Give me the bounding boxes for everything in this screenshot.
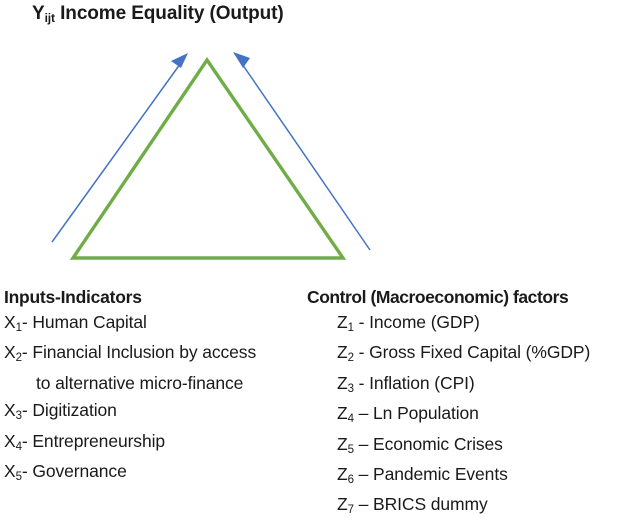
control-symbol: Z bbox=[337, 434, 348, 454]
control-label: - Inflation (CPI) bbox=[354, 373, 475, 393]
control-subscript: 6 bbox=[348, 474, 354, 486]
control-label: - Gross Fixed Capital (%GDP) bbox=[354, 342, 590, 362]
input-label: - Human Capital bbox=[22, 312, 147, 332]
input-subscript: 4 bbox=[16, 441, 22, 453]
list-item: X1- Human Capital bbox=[4, 309, 306, 339]
control-symbol: Z bbox=[337, 403, 348, 423]
input-symbol: X bbox=[4, 461, 16, 481]
list-item: Z6 – Pandemic Events bbox=[306, 461, 630, 491]
control-label: – Pandemic Events bbox=[354, 464, 508, 484]
input-symbol: X bbox=[4, 431, 16, 451]
control-symbol: Z bbox=[337, 312, 348, 332]
control-symbol: Z bbox=[337, 494, 348, 514]
input-symbol: X bbox=[4, 312, 16, 332]
inputs-column-header: Inputs-Indicators bbox=[4, 286, 306, 309]
title-symbol: Y bbox=[32, 3, 45, 24]
control-label: - Income (GDP) bbox=[354, 312, 480, 332]
list-item: Z4 – Ln Population bbox=[306, 400, 630, 430]
list-item: X3- Digitization bbox=[4, 397, 306, 427]
controls-list: Z1 - Income (GDP)Z2 - Gross Fixed Capita… bbox=[306, 309, 630, 522]
green-triangle bbox=[73, 60, 343, 258]
control-subscript: 3 bbox=[348, 383, 354, 395]
control-subscript: 7 bbox=[348, 504, 354, 516]
right-upward-arrow-icon bbox=[233, 52, 370, 250]
page-title: Yijt Income Equality (Output) bbox=[32, 2, 284, 27]
inputs-indicators-column: Inputs-Indicators X1- Human CapitalX2- F… bbox=[4, 286, 306, 488]
inputs-list: X1- Human CapitalX2- Financial Inclusion… bbox=[4, 309, 306, 488]
list-item: X5- Governance bbox=[4, 458, 306, 488]
input-symbol: X bbox=[4, 400, 16, 420]
input-label: - Digitization bbox=[22, 400, 117, 420]
control-subscript: 1 bbox=[348, 322, 354, 334]
title-symbol-subscript: ijt bbox=[45, 11, 55, 25]
list-item: X2- Financial Inclusion by access bbox=[4, 339, 306, 369]
list-item: Z2 - Gross Fixed Capital (%GDP) bbox=[306, 339, 630, 369]
input-label: - Entrepreneurship bbox=[22, 431, 165, 451]
control-symbol: Z bbox=[337, 342, 348, 362]
input-subscript: 2 bbox=[16, 352, 22, 364]
list-item: Z7 – BRICS dummy bbox=[306, 491, 630, 521]
input-subscript: 3 bbox=[16, 410, 22, 422]
control-symbol: Z bbox=[337, 464, 348, 484]
control-subscript: 4 bbox=[348, 413, 354, 425]
control-subscript: 2 bbox=[348, 352, 354, 364]
input-symbol: X bbox=[4, 342, 16, 362]
input-label: - Governance bbox=[22, 461, 127, 481]
input-label: - Financial Inclusion by access bbox=[22, 342, 256, 362]
control-label: – Economic Crises bbox=[354, 434, 503, 454]
input-subscript: 5 bbox=[16, 471, 22, 483]
control-label: – BRICS dummy bbox=[354, 494, 488, 514]
list-item: Z5 – Economic Crises bbox=[306, 431, 630, 461]
controls-column-header: Control (Macroeconomic) factors bbox=[306, 286, 630, 309]
triangle-diagram bbox=[0, 28, 630, 283]
title-text: Income Equality (Output) bbox=[55, 3, 284, 24]
list-item: X4- Entrepreneurship bbox=[4, 428, 306, 458]
list-item: Z1 - Income (GDP) bbox=[306, 309, 630, 339]
control-label: – Ln Population bbox=[354, 403, 479, 423]
left-upward-arrow-icon bbox=[52, 53, 188, 242]
list-item: Z3 - Inflation (CPI) bbox=[306, 370, 630, 400]
input-subscript: 1 bbox=[16, 322, 22, 334]
control-factors-column: Control (Macroeconomic) factors Z1 - Inc… bbox=[306, 286, 630, 522]
control-subscript: 5 bbox=[348, 444, 354, 456]
list-item-continuation: to alternative micro-finance bbox=[4, 370, 306, 397]
control-symbol: Z bbox=[337, 373, 348, 393]
